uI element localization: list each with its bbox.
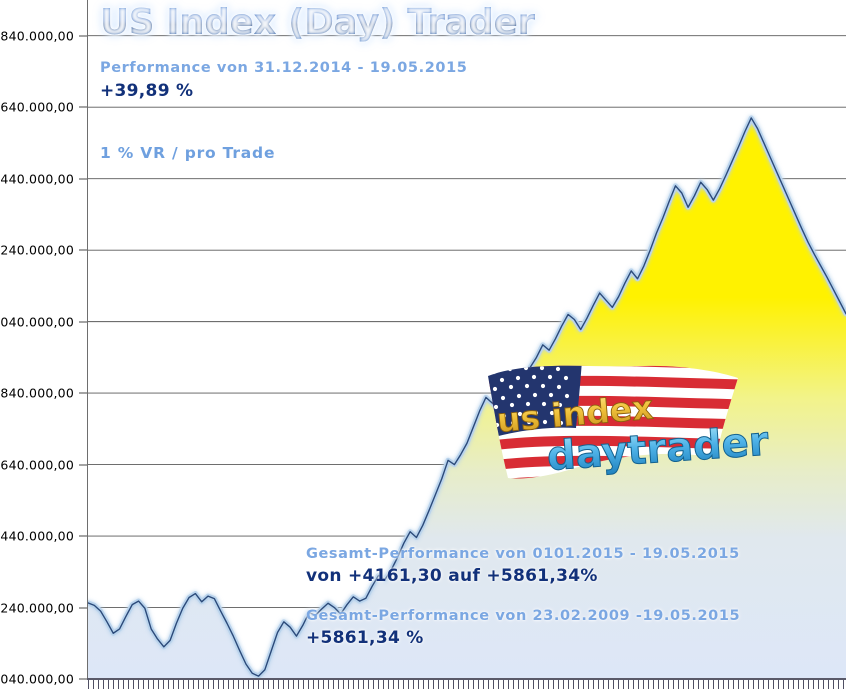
y-axis-tick-label: 4.840.000,00 — [0, 386, 74, 401]
y-axis: 5.840.000,005.640.000,005.440.000,005.24… — [0, 0, 88, 693]
brand-logo: us index daytrader — [470, 358, 770, 488]
y-axis-tick-label: 4.440.000,00 — [0, 529, 74, 544]
performance-value: +39,89 % — [100, 81, 193, 101]
y-axis-tick-label: 4.040.000,00 — [0, 672, 74, 687]
y-axis-tick-label: 5.440.000,00 — [0, 171, 74, 186]
chart-screenshot: 5.840.000,005.640.000,005.440.000,005.24… — [0, 0, 846, 693]
total-performance-2-label: Gesamt-Performance von 23.02.2009 -19.05… — [306, 608, 740, 624]
y-axis-tick-label: 4.240.000,00 — [0, 600, 74, 615]
risk-per-trade-label: 1 % VR / pro Trade — [100, 144, 275, 162]
total-performance-2-value: +5861,34 % — [306, 628, 424, 648]
y-axis-tick-label: 5.640.000,00 — [0, 100, 74, 115]
y-axis-tick-label: 4.640.000,00 — [0, 457, 74, 472]
y-axis-tick-label: 5.840.000,00 — [0, 28, 74, 43]
x-axis-ticks — [88, 680, 846, 689]
performance-period-label: Performance von 31.12.2014 - 19.05.2015 — [100, 60, 467, 76]
y-axis-tick-label: 5.240.000,00 — [0, 243, 74, 258]
page-title: US Index (Day) Trader — [100, 2, 535, 43]
total-performance-1-value: von +4161,30 auf +5861,34% — [306, 566, 598, 586]
y-axis-tick-label: 5.040.000,00 — [0, 314, 74, 329]
total-performance-1-label: Gesamt-Performance von 0101.2015 - 19.05… — [306, 546, 740, 562]
